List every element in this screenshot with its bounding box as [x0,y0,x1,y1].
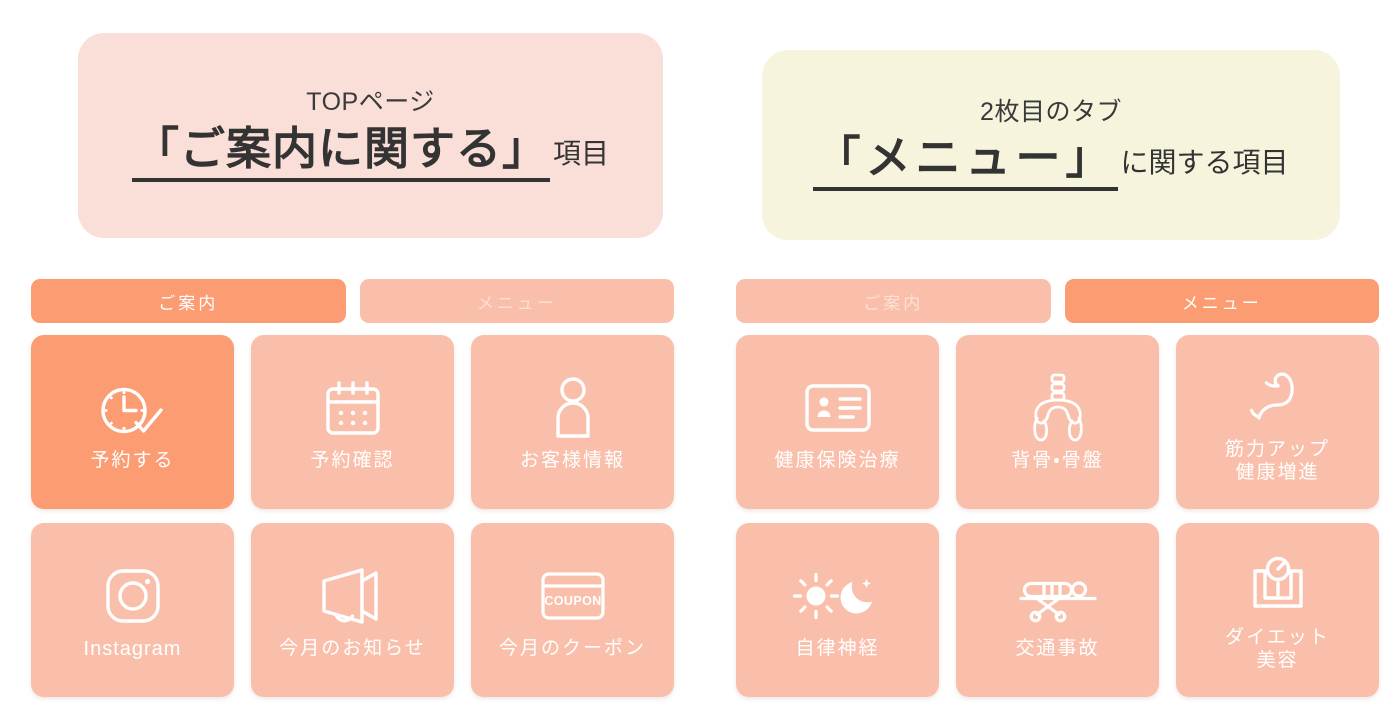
card-strength-health[interactable]: 筋力アップ 健康増進 [1176,335,1379,509]
card-label: お客様情報 [520,449,625,472]
guide-panel: ご案内 メニュー 予約する [31,279,674,697]
guide-panel-tabs: ご案内 メニュー [31,279,674,323]
menu-callout-tail: に関する項目 [1118,147,1289,179]
calendar-icon [322,371,384,445]
tab-menu[interactable]: メニュー [360,279,675,323]
card-label: 予約確認 [310,449,394,472]
card-diet-beauty[interactable]: ダイエット 美容 [1176,523,1379,697]
card-label: ダイエット 美容 [1225,626,1330,672]
card-make-reservation[interactable]: 予約する [31,335,234,509]
card-label: Instagram [84,637,182,661]
flexed-arm-icon [1247,360,1309,434]
guide-card-grid: 予約する 予約確認 [31,335,674,697]
menu-callout: 2枚目のタブ 「メニュー」 に関する項目 [762,50,1340,240]
stretcher-icon [1017,559,1099,633]
sun-moon-icon [792,559,884,633]
card-customer-info[interactable]: お客様情報 [471,335,674,509]
megaphone-icon [316,559,390,633]
clock-check-icon [98,371,168,445]
card-spine-pelvis[interactable]: 背骨・骨盤 [956,335,1159,509]
svg-text:COUPON: COUPON [544,594,601,608]
menu-panel-tabs: ご案内 メニュー [736,279,1379,323]
card-label: 今月のクーポン [499,637,646,660]
guide-callout: TOPページ 「ご案内に関する」 項目 [78,33,663,238]
instagram-icon [102,559,164,633]
guide-callout-main: 「ご案内に関する」 項目 [132,123,609,182]
card-label: 背骨・骨盤 [1011,449,1103,472]
card-autonomic-nerves[interactable]: 自律神経 [736,523,939,697]
menu-callout-main: 「メニュー」 に関する項目 [813,132,1288,191]
tab-menu[interactable]: メニュー [1065,279,1380,323]
menu-callout-emphasis: 「メニュー」 [813,132,1117,191]
card-label: 今月のお知らせ [279,637,426,660]
menu-panel: ご案内 メニュー 健康保険治療 [736,279,1379,697]
person-icon [548,371,598,445]
guide-callout-tail: 項目 [550,138,609,170]
guide-callout-emphasis: 「ご案内に関する」 [132,123,550,182]
card-confirm-reservation[interactable]: 予約確認 [251,335,454,509]
menu-callout-kicker: 2枚目のタブ [980,99,1122,127]
card-label: 筋力アップ 健康増進 [1225,438,1330,484]
pelvis-spine-icon [1025,371,1091,445]
tab-guide[interactable]: ご案内 [31,279,346,323]
tab-guide[interactable]: ご案内 [736,279,1051,323]
card-traffic-accident[interactable]: 交通事故 [956,523,1159,697]
card-label: 健康保険治療 [774,449,900,472]
id-card-icon [803,371,873,445]
coupon-card-icon: COUPON [538,559,608,633]
card-label: 自律神経 [795,637,879,660]
card-label: 交通事故 [1015,637,1099,660]
guide-callout-kicker: TOPページ [306,89,434,117]
menu-card-grid: 健康保険治療 背骨・骨盤 [736,335,1379,697]
weight-scale-icon [1247,548,1309,622]
card-instagram[interactable]: Instagram [31,523,234,697]
card-label: 予約する [90,449,174,472]
card-health-insurance-treatment[interactable]: 健康保険治療 [736,335,939,509]
card-monthly-news[interactable]: 今月のお知らせ [251,523,454,697]
card-monthly-coupon[interactable]: COUPON 今月のクーポン [471,523,674,697]
